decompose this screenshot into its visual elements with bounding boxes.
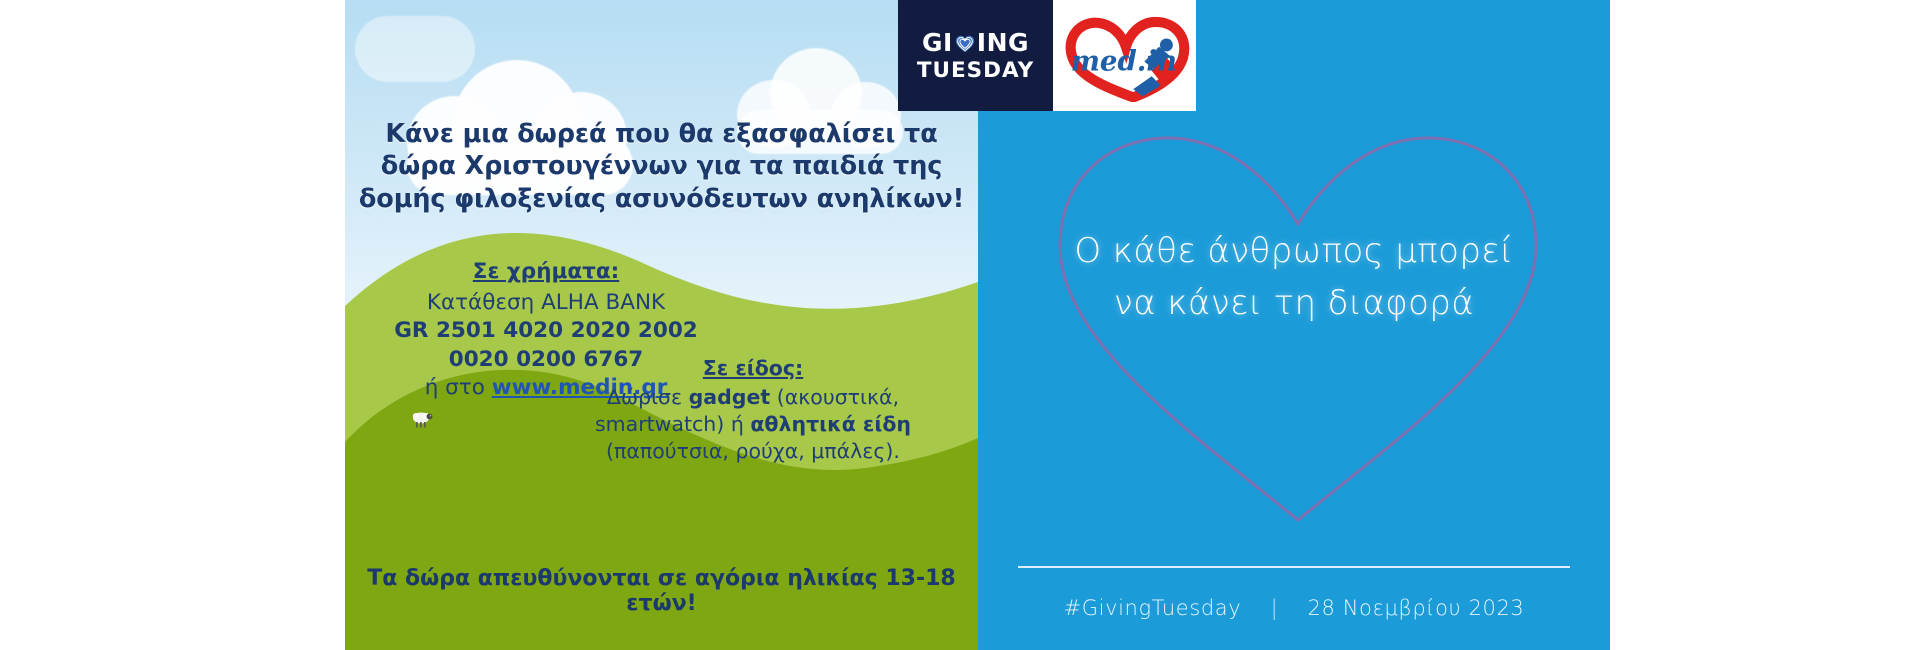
giving-tuesday-logo-gi: GI (922, 30, 953, 55)
giving-tuesday-poster: Κάνε μια δωρεά που θα εξασφαλίσει τα δώρ… (0, 0, 1920, 650)
giving-tuesday-logo-line-1: GI ING (922, 30, 1029, 55)
in-kind-line-2-prefix: ή (731, 412, 751, 436)
medin-logo: med.in (1053, 0, 1196, 111)
in-kind-line-1-bold: gadget (689, 385, 771, 409)
website-prefix: ή στο (425, 375, 492, 400)
quote-line-1: Ο κάθε άνθρωπος μπορεί (1008, 225, 1580, 277)
event-date: 28 Νοεμβρίου 2023 (1308, 596, 1525, 620)
medin-logo-graphic: med.in (1056, 10, 1194, 102)
giving-tuesday-logo: GI ING TUESDAY (898, 0, 1053, 111)
iban-line-1: GR 2501 4020 2020 2002 (381, 317, 711, 346)
in-kind-line-2-bold: αθλητικά είδη (750, 412, 911, 436)
footer-divider (1018, 566, 1570, 568)
sheep-icon (409, 410, 435, 428)
donate-money-title: Σε χρήματα: (381, 258, 711, 287)
in-kind-line-2-suffix: (παπούτσια, ρούχα, μπάλες). (606, 439, 900, 463)
heart-outline-icon (1018, 120, 1578, 540)
age-note: Τα δώρα απευθύνονται σε αγόρια ηλικίας 1… (357, 566, 966, 616)
quote-line-2: να κάνει τη διαφορά (1008, 277, 1580, 329)
footer: #GivingTuesday | 28 Νοεμβρίου 2023 (1008, 596, 1580, 620)
cloud-decoration (355, 16, 475, 82)
hashtag: #GivingTuesday (1064, 596, 1242, 620)
left-panel: Κάνε μια δωρεά που θα εξασφαλίσει τα δώρ… (345, 0, 978, 650)
in-kind-line-1-prefix: Δώρισε (607, 385, 689, 409)
medin-logo-text: med.in (1070, 44, 1176, 77)
donate-in-kind-block: Σε είδος: Δώρισε gadget (ακουστικά, smar… (593, 355, 913, 465)
right-quote: Ο κάθε άνθρωπος μπορεί να κάνει τη διαφο… (1008, 225, 1580, 329)
logo-row: GI ING TUESDAY med.in (898, 0, 1196, 111)
giving-tuesday-logo-ing: ING (977, 30, 1029, 55)
bank-name: Κατάθεση ALHA BANK (381, 289, 711, 318)
donate-in-kind-title: Σε είδος: (593, 355, 913, 382)
heart-icon (954, 33, 976, 55)
footer-separator: | (1249, 596, 1301, 620)
page-title: Κάνε μια δωρεά που θα εξασφαλίσει τα δώρ… (357, 118, 966, 215)
giving-tuesday-logo-line-2: TUESDAY (917, 60, 1034, 82)
